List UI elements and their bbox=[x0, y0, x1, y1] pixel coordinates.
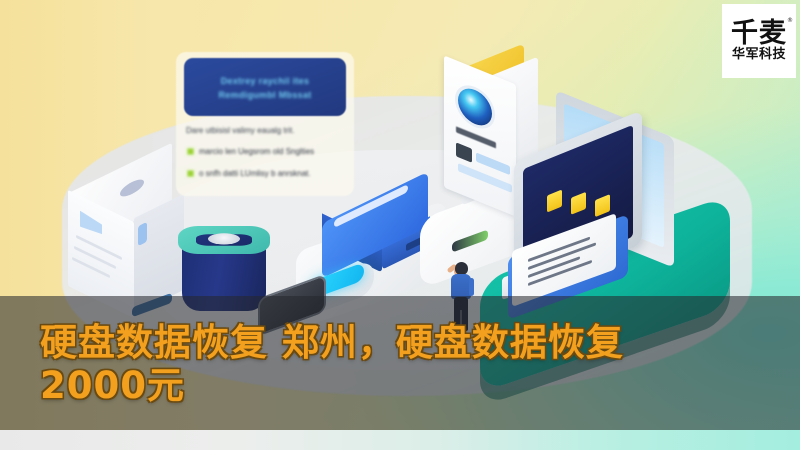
info-card-bullet-label: marcio len Uegsrom old Snglties bbox=[199, 147, 314, 156]
brand-logo: 千麦 ® 华军科技 bbox=[722, 4, 796, 78]
logo-main-text-wrap: 千麦 ® bbox=[731, 20, 787, 47]
bottom-accent-strip bbox=[0, 430, 800, 450]
registered-trademark-icon: ® bbox=[787, 18, 794, 24]
logo-main-text: 千麦 bbox=[731, 18, 787, 49]
card-chip bbox=[456, 142, 472, 162]
cylinder-disc bbox=[208, 233, 240, 244]
info-card-bullet-label: o snfh datti LUmlisy b anrsknat. bbox=[199, 169, 311, 178]
info-card-lead-text: Dare utbisisl valimy eaualg trit. bbox=[186, 126, 294, 135]
file-icon bbox=[595, 194, 610, 217]
info-card-banner: Dextrey raychil ites Remdigumbl Mbssat bbox=[184, 58, 346, 116]
cylinder-top bbox=[178, 226, 270, 254]
check-bullet-icon bbox=[186, 169, 195, 178]
logo-sub-text: 华军科技 bbox=[732, 48, 786, 62]
banner-image: Dextrey raychil ites Remdigumbl Mbssat D… bbox=[0, 0, 800, 450]
check-bullet-icon bbox=[186, 147, 195, 156]
camera-lens-icon bbox=[458, 83, 492, 131]
info-card: Dextrey raychil ites Remdigumbl Mbssat D… bbox=[176, 52, 354, 196]
info-card-banner-line-1: Dextrey raychil ites bbox=[221, 76, 310, 86]
info-card-banner-line-2: Remdigumbl Mbssat bbox=[218, 90, 311, 100]
page-title: 硬盘数据恢复 郑州，硬盘数据恢复2000元 bbox=[40, 322, 690, 408]
file-icon bbox=[571, 192, 586, 215]
file-icon bbox=[547, 189, 562, 212]
info-card-bullet-item: marcio len Uegsrom old Snglties bbox=[186, 147, 314, 156]
info-card-bullet-item: o snfh datti LUmlisy b anrsknat. bbox=[186, 169, 311, 178]
person-arm bbox=[469, 278, 474, 296]
